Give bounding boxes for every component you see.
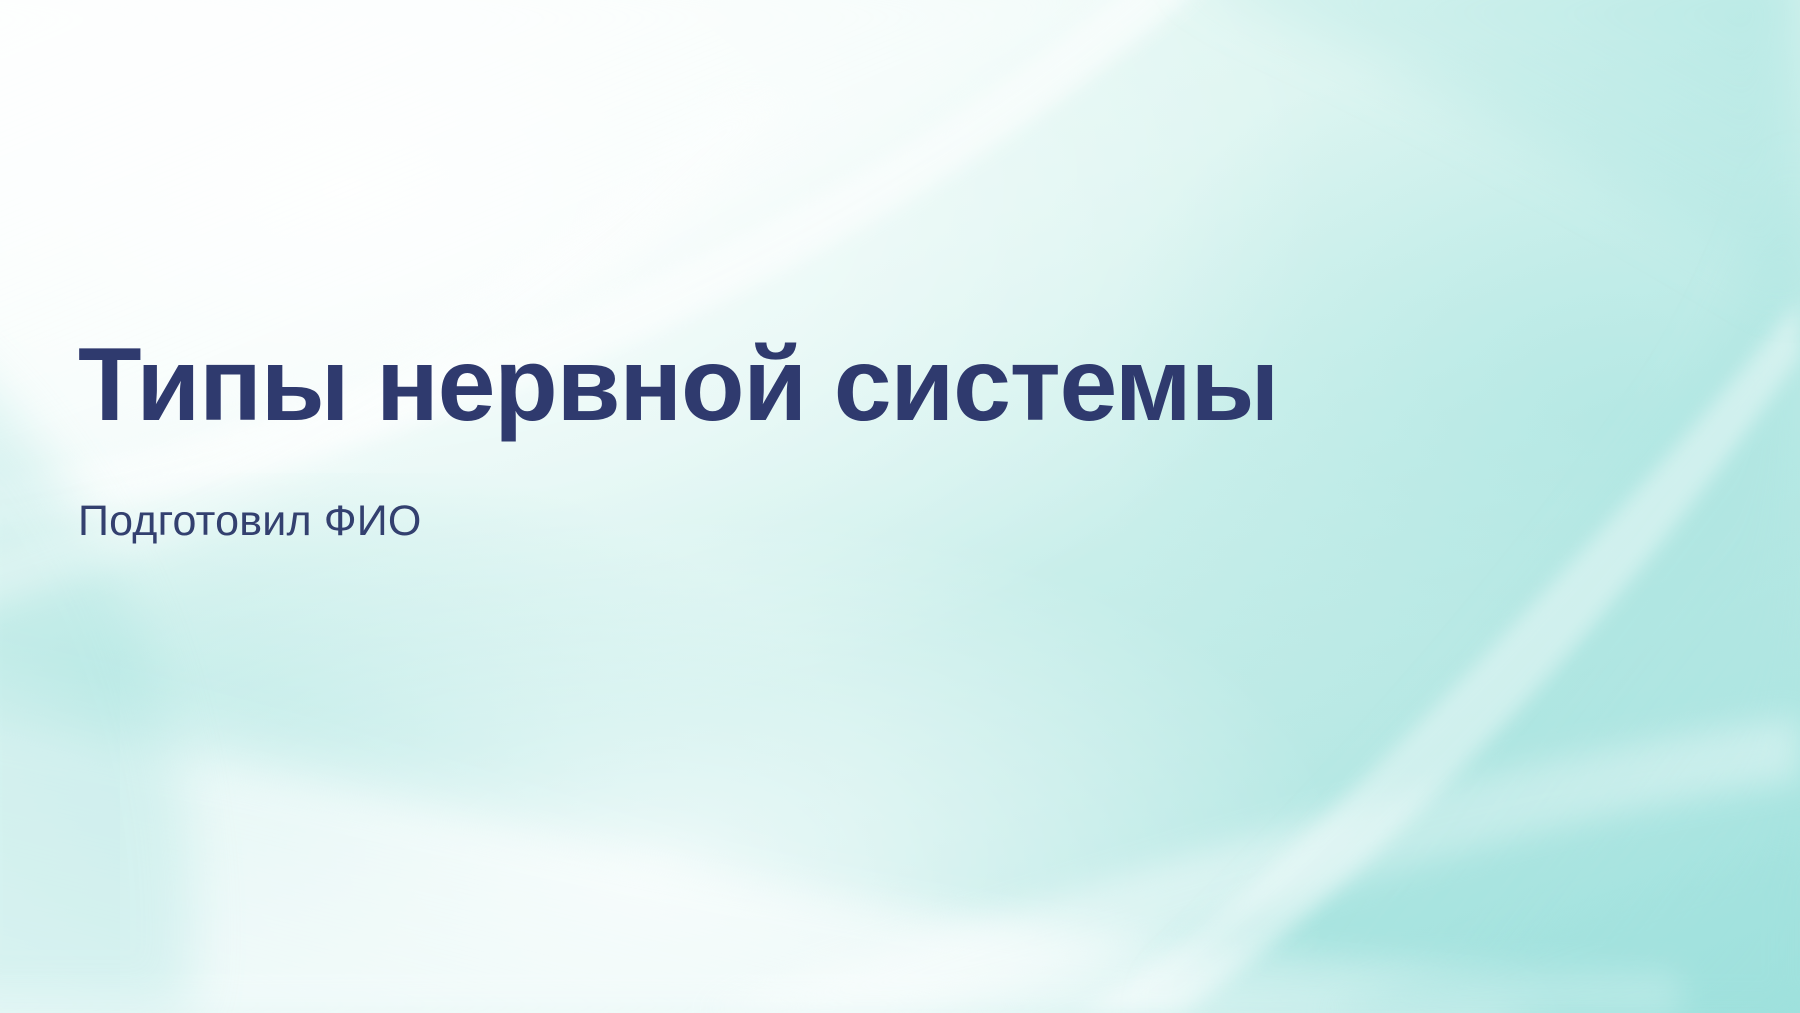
author-subtitle: Подготовил ФИО	[78, 440, 1678, 548]
wave-bottom-right-sliver	[700, 716, 1800, 1013]
page-title: Типы нервной системы	[78, 330, 1678, 440]
wave-bottom-crest	[0, 700, 1680, 1013]
title-slide: Типы нервной системы Подготовил ФИО	[0, 0, 1800, 1013]
background-glow-bottom-left	[0, 473, 840, 1013]
wave-top-right	[1180, 0, 1800, 300]
wave-bottom-left	[0, 640, 1520, 1013]
wave-right-diagonal	[1160, 160, 1800, 1013]
background-glow-center-bottom	[120, 520, 1320, 1013]
title-block: Типы нервной системы Подготовил ФИО	[78, 330, 1678, 548]
wave-bottom-right-settle	[1320, 842, 1800, 1013]
